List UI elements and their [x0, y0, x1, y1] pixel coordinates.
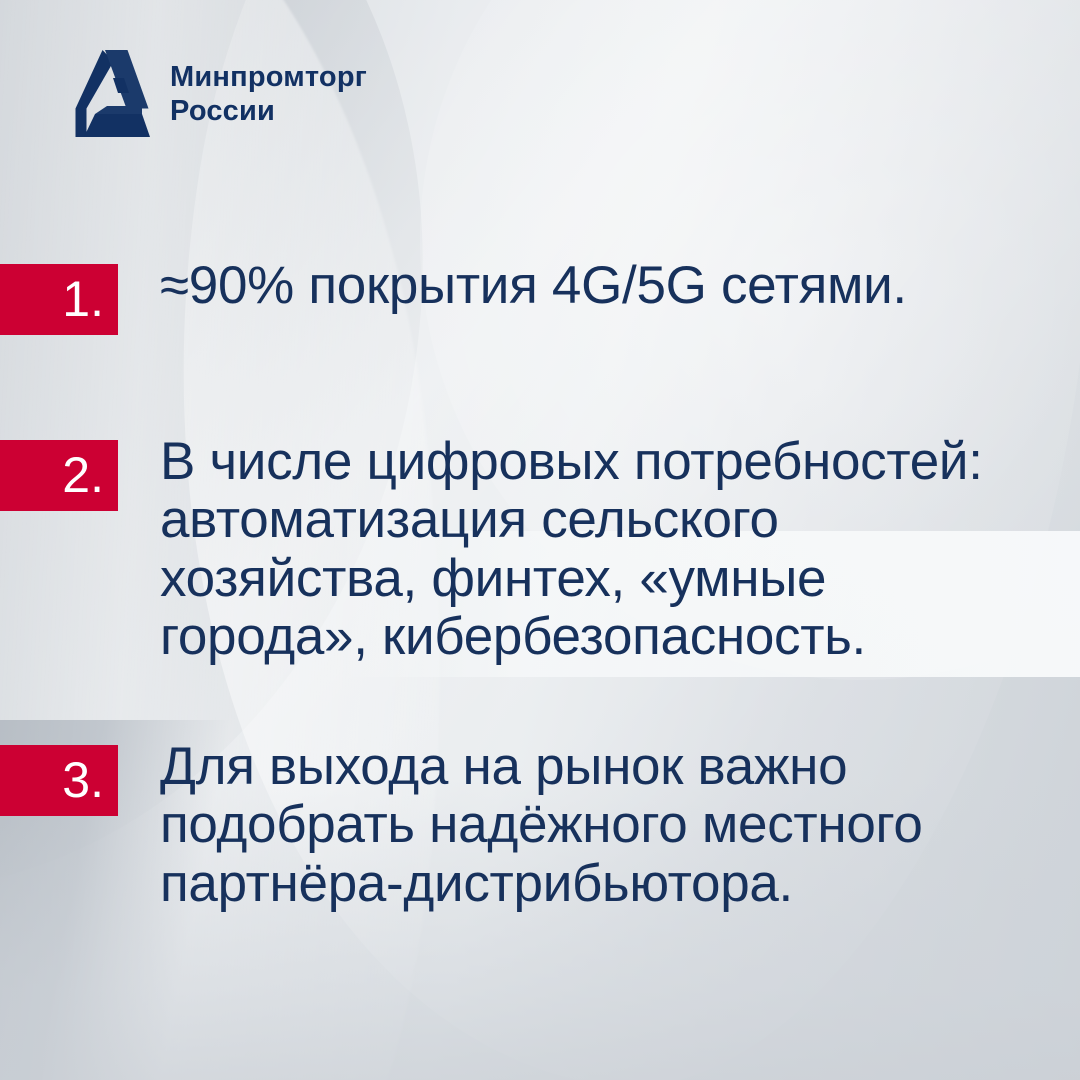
item-number-badge: 1.: [0, 264, 118, 335]
item-number-badge: 3.: [0, 745, 118, 816]
item-number-badge: 2.: [0, 440, 118, 511]
infocard-canvas: Минпромторг России 1. ≈90% покрытия 4G/5…: [0, 0, 1080, 1080]
minpromtorg-triangle-logo-icon: [72, 48, 152, 140]
organization-name: Минпромторг России: [170, 61, 367, 128]
list-item: 1. ≈90% покрытия 4G/5G сетями.: [0, 264, 1080, 335]
item-text: ≈90% покрытия 4G/5G сетями.: [160, 257, 907, 315]
list-item: 3. Для выхода на рынок важно подобрать н…: [0, 745, 1080, 913]
organization-logo-lockup: Минпромторг России: [72, 48, 367, 140]
item-text: Для выхода на рынок важно подобрать надё…: [160, 738, 923, 913]
list-item: 2. В числе цифровых потребностей: автома…: [0, 440, 1080, 666]
item-text: В числе цифровых потребностей: автоматиз…: [160, 433, 983, 666]
